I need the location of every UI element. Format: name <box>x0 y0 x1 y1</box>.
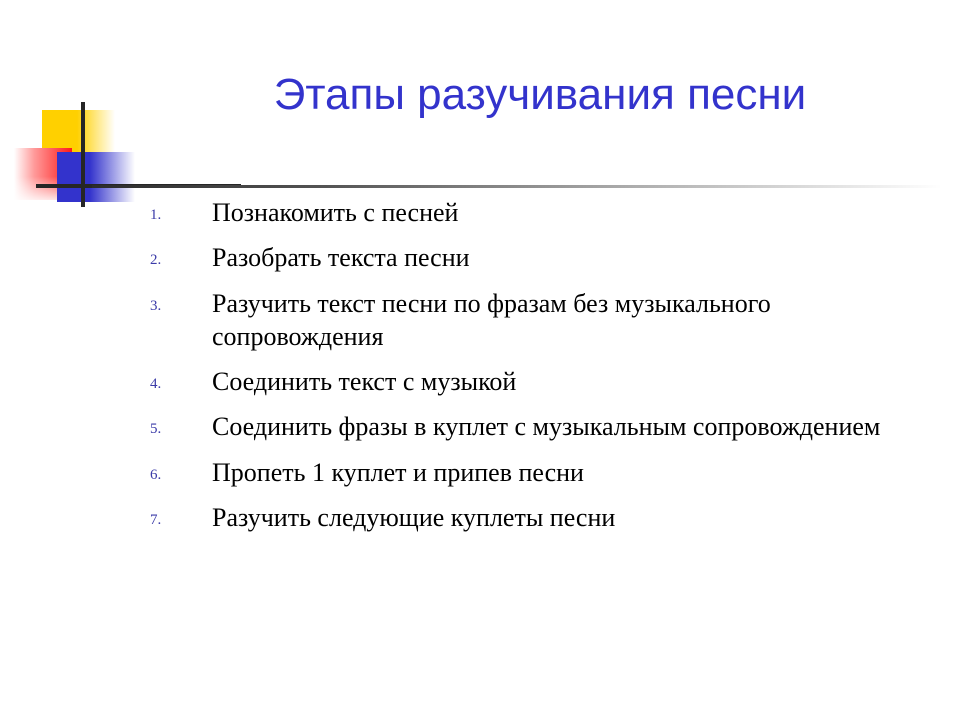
list-item: 6. Пропеть 1 куплет и припев песни <box>150 456 940 489</box>
list-item-text: Соединить текст с музыкой <box>212 365 940 398</box>
list-item-number: 4. <box>150 365 212 392</box>
list-item: 3. Разучить текст песни по фразам без му… <box>150 287 940 354</box>
list-item-text: Разучить следующие куплеты песни <box>212 501 940 534</box>
list-item-text: Соединить фразы в куплет с музыкальным с… <box>212 410 940 443</box>
slide-canvas: Этапы разучивания песни 1. Познакомить с… <box>0 0 960 720</box>
vertical-rule-shape <box>81 102 85 207</box>
list-item-number: 6. <box>150 456 212 483</box>
list-item: 1. Познакомить с песней <box>150 196 940 229</box>
list-item: 2. Разобрать текста песни <box>150 241 940 274</box>
list-item-number: 7. <box>150 501 212 528</box>
list-item: 4. Соединить текст с музыкой <box>150 365 940 398</box>
list-item-text: Познакомить с песней <box>212 196 940 229</box>
list-item-text: Разучить текст песни по фразам без музык… <box>212 287 940 354</box>
numbered-list: 1. Познакомить с песней 2. Разобрать тек… <box>150 196 940 546</box>
list-item-text: Пропеть 1 куплет и припев песни <box>212 456 940 489</box>
red-square-shape <box>14 148 72 200</box>
list-item: 7. Разучить следующие куплеты песни <box>150 501 940 534</box>
blue-square-shape <box>57 152 135 202</box>
yellow-square-shape <box>42 110 115 166</box>
list-item-text: Разобрать текста песни <box>212 241 940 274</box>
slide-title: Этапы разучивания песни <box>160 72 920 119</box>
list-item: 5. Соединить фразы в куплет с музыкальны… <box>150 410 940 443</box>
list-item-number: 2. <box>150 241 212 268</box>
list-item-number: 5. <box>150 410 212 437</box>
title-divider <box>92 185 942 188</box>
list-item-number: 3. <box>150 287 212 314</box>
list-item-number: 1. <box>150 196 212 223</box>
